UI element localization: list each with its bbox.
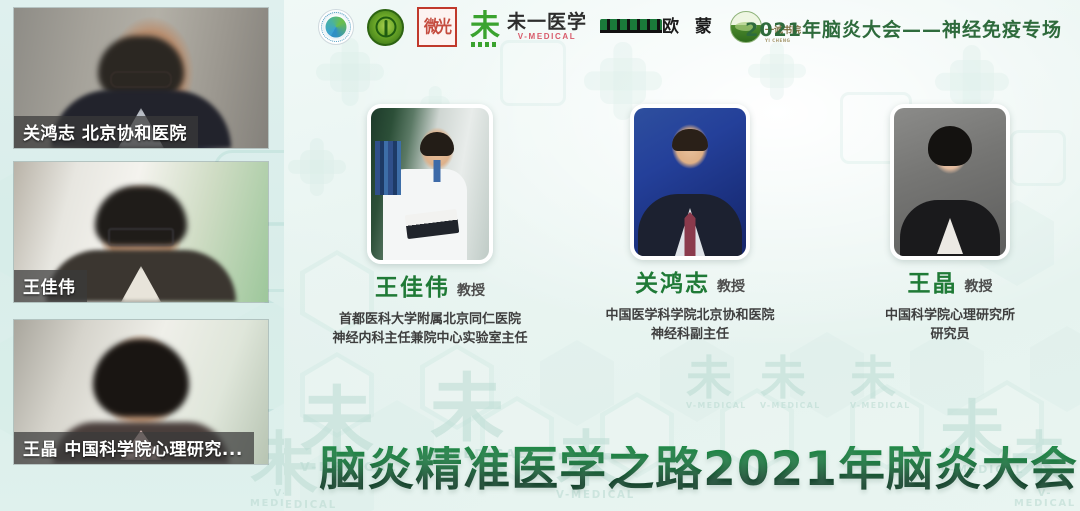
video-tile-wang-jiawei[interactable]: 王佳伟 <box>14 162 268 302</box>
main-event-title: 脑炎精准医学之路2021年脑炎大会 <box>319 446 1078 493</box>
speaker-name: 王晶 <box>908 271 958 297</box>
logo-oumeng: 欧 蒙 <box>600 19 717 36</box>
participant-name-label: 关鸿志 北京协和医院 <box>14 116 198 148</box>
speaker-name-row: 王晶教授 <box>825 273 1075 296</box>
affiliation-line-1: 中国科学院心理研究所 <box>825 307 1075 326</box>
affiliation-line-2: 神经科副主任 <box>565 326 815 345</box>
speaker-photo <box>367 104 493 264</box>
logo-green-academy <box>367 9 404 46</box>
participant-name-label: 王晶 中国科学院心理研究... <box>14 432 254 464</box>
oumeng-label: 欧 蒙 <box>662 19 717 36</box>
affiliation-line-1: 首都医科大学附属北京同仁医院 <box>305 311 555 330</box>
speaker-photo <box>890 104 1010 260</box>
speaker-portrait-art <box>371 108 489 260</box>
speaker-title: 教授 <box>717 279 745 295</box>
video-tile-wang-jing[interactable]: 王晶 中国科学院心理研究... <box>14 320 268 464</box>
conference-header-title: 2021年脑炎大会——神经免疫专场 <box>745 15 1062 42</box>
medical-association-seal-icon <box>318 9 354 45</box>
speaker-name: 关鸿志 <box>635 271 710 297</box>
speaker-title: 教授 <box>965 279 993 295</box>
affiliation-line-2: 研究员 <box>825 326 1075 345</box>
speaker-photo <box>630 104 750 260</box>
speaker-affiliation: 首都医科大学附属北京同仁医院 神经内科主任兼院中心实验室主任 <box>305 311 555 349</box>
speaker-portrait-art <box>634 108 746 256</box>
v-medical-cn: 未一医学 <box>507 13 587 33</box>
speaker-name-row: 关鸿志教授 <box>565 273 815 296</box>
affiliation-line-1: 中国医学科学院北京协和医院 <box>565 307 815 326</box>
v-medical-wordmark: 未一医学 V-MEDICAL <box>507 13 587 41</box>
logo-red-square-seal: 微光 <box>417 7 457 47</box>
participant-name-label: 王佳伟 <box>14 270 87 302</box>
speaker-name: 王佳伟 <box>375 275 450 301</box>
oumeng-roof-icon <box>600 19 662 33</box>
speaker-card-list: 王佳伟教授 首都医科大学附属北京同仁医院 神经内科主任兼院中心实验室主任 关鸿志… <box>300 104 1080 364</box>
presentation-stage: 未V-MEDICAL 未V-MEDICAL 未V-MEDICAL 未V-MEDI… <box>0 0 1080 511</box>
red-seal-icon: 微光 <box>417 7 457 47</box>
affiliation-line-2: 神经内科主任兼院中心实验室主任 <box>305 330 555 349</box>
participant-silhouette <box>93 339 189 417</box>
speaker-card-wang-jiawei: 王佳伟教授 首都医科大学附属北京同仁医院 神经内科主任兼院中心实验室主任 <box>305 104 555 349</box>
speaker-title: 教授 <box>457 283 485 299</box>
speaker-name-row: 王佳伟教授 <box>305 277 555 300</box>
green-academy-seal-icon <box>367 9 404 46</box>
participant-silhouette <box>98 36 184 98</box>
video-conference-panel: 未V-MEDICAL 关鸿志 北京协和医院 王佳伟 <box>0 0 284 511</box>
speaker-affiliation: 中国科学院心理研究所 研究员 <box>825 307 1075 345</box>
speaker-card-wang-jing: 王晶教授 中国科学院心理研究所 研究员 <box>825 104 1075 345</box>
speaker-affiliation: 中国医学科学院北京协和医院 神经科副主任 <box>565 307 815 345</box>
logo-china-medical-association <box>318 9 354 45</box>
speaker-card-guan-hongzhi: 关鸿志教授 中国医学科学院北京协和医院 神经科副主任 <box>565 104 815 345</box>
v-medical-mark-icon: 未 <box>470 12 500 42</box>
logo-v-medical: 未 未一医学 V-MEDICAL <box>470 12 587 42</box>
glasses-shape <box>108 228 174 246</box>
v-medical-en: V-MEDICAL <box>507 33 587 41</box>
sponsor-logo-bar: 微光 未 未一医学 V-MEDICAL 欧 蒙 一诚书院YI CHENG <box>318 6 801 48</box>
speaker-portrait-art <box>894 108 1006 256</box>
glasses-shape <box>110 71 172 88</box>
video-tile-guan-hongzhi[interactable]: 关鸿志 北京协和医院 <box>14 8 268 148</box>
